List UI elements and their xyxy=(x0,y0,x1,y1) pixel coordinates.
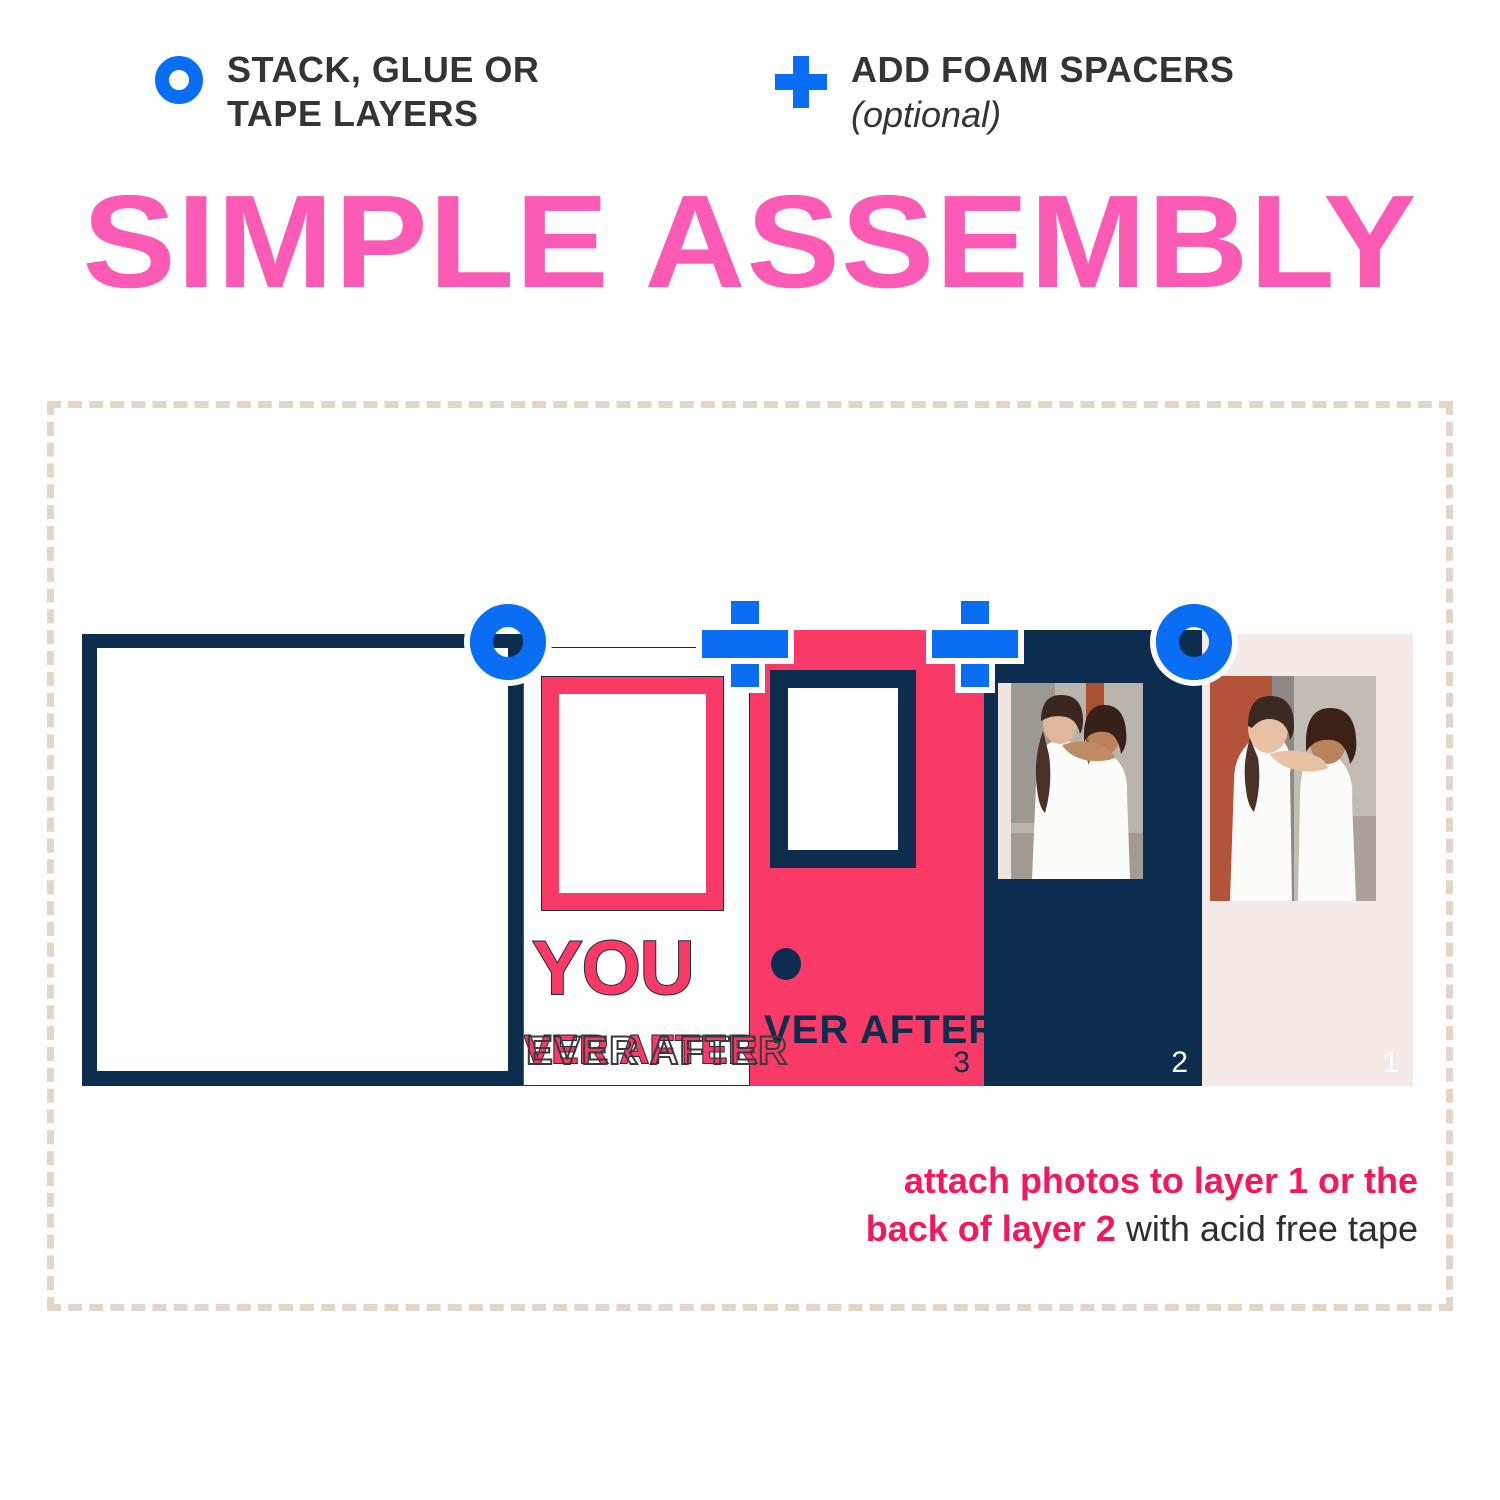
caption-line-2-plain: with acid free tape xyxy=(1116,1208,1418,1249)
card-inner-white xyxy=(97,648,508,1071)
marker-plus-icon xyxy=(932,601,1018,687)
caption-line-2-bold: back of layer 2 xyxy=(866,1208,1116,1249)
ring-icon xyxy=(470,604,546,680)
pink-photo-frame xyxy=(542,677,723,910)
marker-ring-icon xyxy=(1156,604,1232,680)
caption-line-1: attach photos to layer 1 or the xyxy=(866,1157,1418,1205)
decorative-dot xyxy=(771,948,801,980)
layer-2-navy: 2 xyxy=(982,630,1202,1086)
photo-illustration xyxy=(998,683,1143,879)
ring-icon xyxy=(1156,604,1232,680)
layer-4-navy-cover xyxy=(82,634,523,1086)
photo-illustration xyxy=(1210,676,1376,901)
photo-attach-caption: attach photos to layer 1 or the back of … xyxy=(866,1157,1418,1253)
marker-plus-icon xyxy=(702,601,788,687)
layer-number: 2 xyxy=(1171,1048,1188,1078)
plus-icon xyxy=(702,601,788,687)
photo-window-cutout xyxy=(770,670,916,868)
layer-white-pink-frame: YOU VER AFTER xyxy=(523,648,750,1086)
card-layer-stack: 1 xyxy=(0,0,1500,1500)
card-headline-you: YOU xyxy=(532,931,694,1007)
layer-number: 1 xyxy=(1382,1048,1399,1078)
card-subline-partial: VER AFTER xyxy=(764,1010,998,1050)
assembly-infographic: SIMPLE ASSEMBLY STACK, GLUE OR TAPE LAYE… xyxy=(0,0,1500,1500)
layer-number: 3 xyxy=(953,1048,970,1078)
plus-icon xyxy=(932,601,1018,687)
caption-line-2: back of layer 2 with acid free tape xyxy=(866,1205,1418,1253)
wedding-photo-1 xyxy=(1210,676,1376,901)
marker-ring-icon xyxy=(470,604,546,680)
layer-1-blush: 1 xyxy=(1200,634,1413,1086)
wedding-photo-2 xyxy=(998,683,1143,879)
layer-3-pink: VER AFTER 3 xyxy=(748,630,984,1086)
